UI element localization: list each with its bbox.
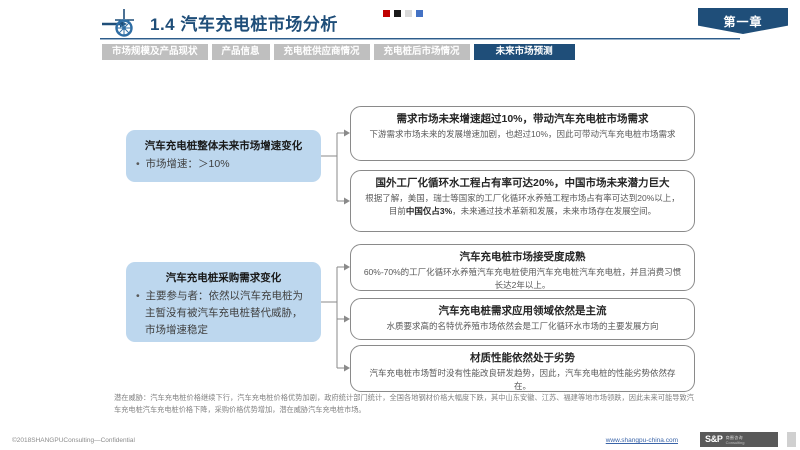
left-card-procurement-bullet: 主要参与者：依然以汽车充电桩为主暂没有被汽车充电桩替代威胁，市场增速稳定 <box>136 288 311 339</box>
copyright-text: ©2018SHANGPUConsulting—Confidential <box>12 437 135 444</box>
detail-box-overseas-share: 国外工厂化循环水工程占有率可达20%，中国市场未来潜力巨大 根据了解，美国，瑞士… <box>350 170 695 232</box>
slide-footer: ©2018SHANGPUConsulting—Confidential www.… <box>0 428 800 450</box>
detail-box-application-field-body: 水质要求高的名特优养殖市场依然会是工厂化循环水市场的主要发展方向 <box>363 320 682 333</box>
left-card-procurement: 汽车充电桩采购需求变化 主要参与者：依然以汽车充电桩为主暂没有被汽车充电桩替代威… <box>126 262 321 342</box>
detail-box-demand-growth: 需求市场未来增速超过10%，带动汽车充电桩市场需求 下游需求市场未来的发展增速加… <box>350 106 695 161</box>
tab-market-scale[interactable]: 市场规模及产品现状 <box>102 44 208 60</box>
detail-box-overseas-share-title: 国外工厂化循环水工程占有率可达20%，中国市场未来潜力巨大 <box>363 176 682 191</box>
section-tabs: 市场规模及产品现状 产品信息 充电桩供应商情况 充电桩后市场情况 未来市场预测 <box>102 44 575 60</box>
header-divider-shadow <box>100 39 740 40</box>
sp-consulting-logo: S&P 商圈咨询 Consulting <box>700 432 778 447</box>
detail-box-application-field-title: 汽车充电桩需求应用领域依然是主流 <box>363 304 682 319</box>
detail-box-acceptance: 汽车充电桩市场接受度成熟 60%-70%的工厂化循环水养殖汽车充电桩使用汽车充电… <box>350 244 695 291</box>
left-card-growth-bullet: 市场增速：＞10% <box>136 156 311 173</box>
sp-logo-en: Consulting <box>726 440 745 445</box>
sp-logo-subtitle: 商圈咨询 Consulting <box>726 435 745 445</box>
detail-box-acceptance-title: 汽车充电桩市场接受度成熟 <box>363 250 682 265</box>
slide-header: 1.4 汽车充电桩市场分析 第一章 <box>0 0 800 40</box>
tab-product-info[interactable]: 产品信息 <box>212 44 270 60</box>
footnote-text: 潜在威胁：汽车充电桩价格继续下行，汽车充电桩价格优势加剧，政府统计部门统计，全国… <box>114 392 694 415</box>
slide-root: 1.4 汽车充电桩市场分析 第一章 市场规模及产品现状 产品信息 充电桩供应商情… <box>0 0 800 450</box>
page-title: 1.4 汽车充电桩市场分析 <box>150 10 338 35</box>
footer-edge-block <box>787 432 796 447</box>
website-link[interactable]: www.shangpu-china.com <box>606 437 678 444</box>
detail-box-material-performance: 材质性能依然处于劣势 汽车充电桩市场暂时没有性能改良研发趋势，因此，汽车充电桩的… <box>350 345 695 392</box>
square-1 <box>383 10 390 17</box>
square-2 <box>394 10 401 17</box>
detail-box-material-performance-title: 材质性能依然处于劣势 <box>363 351 682 366</box>
tab-supplier-status[interactable]: 充电桩供应商情况 <box>274 44 370 60</box>
chapter-badge: 第一章 <box>698 8 788 34</box>
detail-box-material-performance-body: 汽车充电桩市场暂时没有性能改良研发趋势，因此，汽车充电桩的性能劣势依然存在。 <box>363 367 682 393</box>
left-card-growth-title: 汽车充电桩整体未来市场增速变化 <box>136 138 311 154</box>
arrow-wheel-logo-icon <box>100 8 146 38</box>
tab-aftermarket[interactable]: 充电桩后市场情况 <box>374 44 470 60</box>
sp-logo-mark: S&P <box>705 435 723 444</box>
decorative-squares <box>383 10 423 17</box>
detail-box-overseas-share-body: 根据了解，美国，瑞士等国家的工厂化循环水养殖工程市场占有率可达到20%以上，目前… <box>363 192 682 218</box>
square-3 <box>405 10 412 17</box>
left-card-procurement-title: 汽车充电桩采购需求变化 <box>136 270 311 286</box>
detail-box-demand-growth-body: 下游需求市场未来的发展增速加剧，也超过10%，因此可带动汽车充电桩市场需求 <box>363 128 682 141</box>
square-4 <box>416 10 423 17</box>
tab-future-forecast[interactable]: 未来市场预测 <box>474 44 575 60</box>
detail-box-application-field: 汽车充电桩需求应用领域依然是主流 水质要求高的名特优养殖市场依然会是工厂化循环水… <box>350 298 695 340</box>
body-text-highlight: 中国仅占3% <box>406 206 452 216</box>
body-text-post: ，未来通过技术革新和发展，未来市场存在发展空间。 <box>452 206 656 216</box>
detail-box-demand-growth-title: 需求市场未来增速超过10%，带动汽车充电桩市场需求 <box>363 112 682 127</box>
left-card-growth: 汽车充电桩整体未来市场增速变化 市场增速：＞10% <box>126 130 321 182</box>
detail-box-acceptance-body: 60%-70%的工厂化循环水养殖汽车充电桩使用汽车充电桩汽车充电桩，并且消费习惯… <box>363 266 682 292</box>
